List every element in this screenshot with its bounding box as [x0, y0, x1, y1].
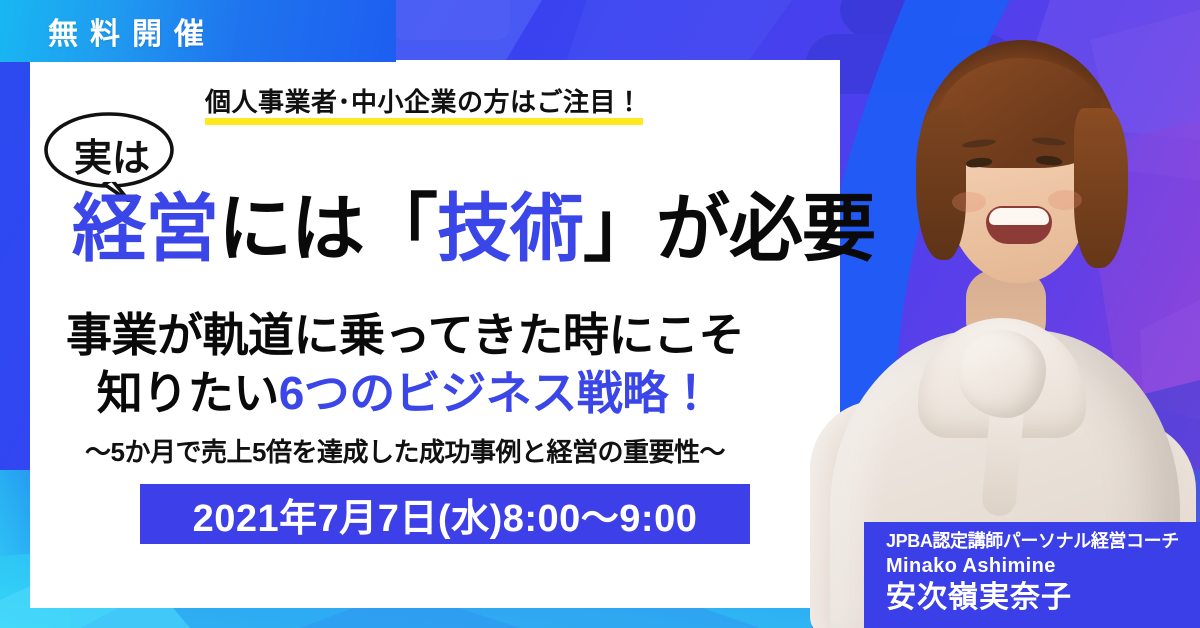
subheadline-line-2: 知りたい6つのビジネス戦略！	[0, 370, 810, 416]
headline: 経営には「技術」が必要	[72, 192, 875, 266]
free-event-badge-label: 無料開催	[0, 9, 216, 53]
free-event-badge: 無料開催	[0, 0, 396, 62]
headline-part-gijutsu: 技術	[437, 187, 583, 270]
headline-part-keieI: 経営	[72, 187, 218, 270]
photo-hair-side-left	[916, 110, 966, 260]
photo-cheek-left	[952, 192, 986, 212]
date-time-bar: 2021年7月7日(水)8:00〜9:00	[140, 484, 750, 544]
headline-part-niwa: には「	[218, 187, 437, 270]
presenter-name: 安次嶺実奈子	[886, 579, 1200, 617]
subheadline-line-2-black: 知りたい	[97, 367, 279, 419]
presenter-title: JPBA認定講師パーソナル経営コーチ	[886, 530, 1200, 553]
presenter-credit: JPBA認定講師パーソナル経営コーチ Minako Ashimine 安次嶺実奈…	[864, 522, 1200, 628]
photo-mouth	[986, 206, 1052, 244]
eyebrow-line: 個人事業者･中小企業の方はご注目！	[205, 82, 643, 119]
subheadline-line-1: 事業が軌道に乗ってきた時にこそ	[0, 312, 810, 358]
date-time-text: 2021年7月7日(水)8:00〜9:00	[193, 487, 698, 542]
eyebrow-text: 個人事業者･中小企業の方はご注目！	[205, 82, 643, 119]
photo-cheek-right	[1048, 190, 1082, 210]
photo-bow	[958, 330, 1046, 418]
tagline: 〜5か月で売上5倍を達成した成功事例と経営の重要性〜	[0, 432, 810, 469]
photo-hair-side-right	[1074, 108, 1128, 268]
seminar-banner: 無料開催 個人事業者･中小企業の方はご注目！ 実は 経営には「技術」が必要 事業…	[0, 0, 1200, 628]
photo-teeth	[989, 208, 1049, 225]
presenter-roman-name: Minako Ashimine	[886, 553, 1200, 579]
subheadline-line-2-blue: 6つのビジネス戦略！	[279, 367, 714, 419]
headline-part-hitsuyo: 」が必要	[583, 187, 875, 270]
eyebrow-underline	[205, 118, 643, 125]
